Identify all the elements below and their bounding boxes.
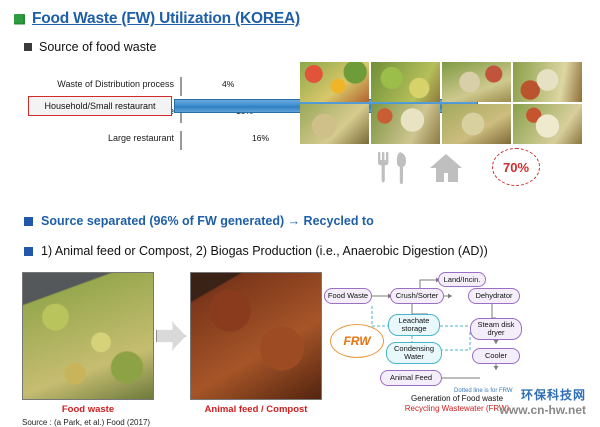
food-waste-photo-strip [300, 62, 582, 144]
flow-node-label: Land/Incin. [444, 276, 481, 284]
photo-thumb [513, 104, 582, 144]
flow-node-dehydrator: Dehydrator [468, 288, 520, 304]
title-text: Food Waste (FW) Utilization (KOREA) [32, 10, 300, 28]
flow-node-label: Food Waste [328, 292, 368, 300]
flow-node-crush-sorter: Crush/Sorter [390, 288, 444, 304]
photo-thumb [300, 104, 369, 144]
flow-node-label: Condensing Water [394, 345, 434, 361]
flow-node-land-incin: Land/Incin. [438, 272, 486, 287]
flow-node-animal-feed: Animal Feed [380, 370, 442, 386]
right-arrow-icon [156, 322, 186, 350]
photo-thumb [371, 62, 440, 102]
flow-node-condensing-water: Condensing Water [386, 342, 442, 364]
bullet-square-icon [24, 247, 33, 256]
flow-node-label: Dehydrator [475, 292, 512, 300]
highlight-percent-badge: 70% [492, 148, 540, 186]
photo-thumb [442, 62, 511, 102]
bullet-uses: 1) Animal feed or Compost, 2) Biogas Pro… [24, 244, 488, 258]
page-title: Food Waste (FW) Utilization (KOREA) [14, 10, 300, 28]
chart-category-label: Large restaurant [22, 133, 180, 143]
chart-row-0: Waste of Distribution process 4% [22, 76, 328, 92]
green-square-icon [14, 14, 25, 25]
caption-food-waste: Food waste [22, 404, 154, 415]
flow-node-label: Animal Feed [390, 374, 432, 382]
caption-animal-feed: Animal feed / Compost [180, 404, 332, 415]
bullet-label: Source separated (96% of FW generated) →… [41, 214, 374, 228]
flow-node-label: Crush/Sorter [396, 292, 439, 300]
chart-row-3-highlight: Household/Small restaurant [28, 96, 300, 118]
bullet-square-icon [24, 43, 32, 51]
bullet-label: 1) Animal feed or Compost, 2) Biogas Pro… [41, 244, 488, 258]
chart-value-label: 4% [222, 79, 234, 89]
slide-root: Food Waste (FW) Utilization (KOREA) Sour… [0, 0, 600, 426]
photo-food-waste [22, 272, 154, 400]
watermark-line2: www.cn-hw.net [500, 403, 586, 417]
chart-row-2: Large restaurant 16% [22, 130, 328, 146]
bullet-source-of-food-waste: Source of food waste [24, 40, 156, 54]
flow-caption-line1: Generation of Food waste [372, 394, 542, 403]
photo-thumb [513, 62, 582, 102]
band-icon-group [372, 150, 472, 184]
photo-thumb [442, 104, 511, 144]
bullet-square-icon [24, 217, 33, 226]
bullet-label: Source of food waste [39, 40, 156, 54]
photo-thumb [300, 62, 369, 102]
flow-node-steam-disk-dryer: Steam disk dryer [470, 318, 522, 340]
percent-value: 70% [503, 160, 529, 175]
photo-animal-feed-compost [190, 272, 322, 400]
chart-bar [180, 131, 182, 150]
photo-thumb [371, 104, 440, 144]
flow-node-food-waste: Food Waste [324, 288, 372, 304]
flow-node-label: Leachate storage [399, 317, 430, 333]
chart-value-label: 16% [252, 133, 269, 143]
food-waste-source-chart: Waste of Distribution process 4% Group f… [22, 62, 328, 190]
flow-node-label: Cooler [485, 352, 507, 360]
highlight-label-box: Household/Small restaurant [28, 96, 172, 116]
bullet-source-separated: Source separated (96% of FW generated) →… [24, 214, 374, 228]
chart-category-label: Waste of Distribution process [22, 79, 180, 89]
cutlery-and-house-icons [372, 150, 472, 184]
chart-category-label: Household/Small restaurant [44, 101, 155, 111]
flow-node-label: Steam disk dryer [477, 321, 514, 337]
flow-node-cooler: Cooler [472, 348, 520, 364]
flow-node-label: FRW [343, 334, 370, 348]
flow-node-leachate-storage: Leachate storage [388, 314, 440, 336]
chart-bar [180, 77, 182, 96]
watermark-line1: 环保科技网 [521, 386, 586, 403]
flow-node-frw: FRW [330, 324, 384, 358]
